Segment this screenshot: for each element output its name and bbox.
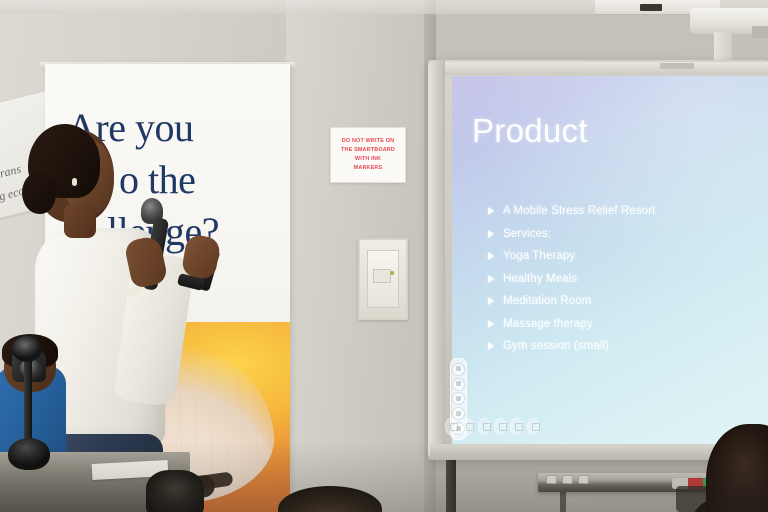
bullet-label: Gym session (small) [503, 340, 609, 352]
floor-shadow [0, 442, 768, 512]
pointer-icon[interactable] [452, 363, 465, 376]
projector-lens [752, 26, 768, 38]
list-item: Gym session (small) [488, 335, 760, 358]
bullet-label: Meditation Room [503, 295, 591, 307]
banner-headline-line-2: o the [119, 154, 290, 206]
triangle-bullet-icon [488, 252, 494, 260]
keyboard-icon[interactable] [494, 418, 506, 435]
wall-panel-face [367, 250, 399, 308]
list-item: Healthy Meals [488, 268, 760, 291]
warning-sign: DO NOT WRITE ON THE SMARTBOARD WITH INK … [330, 127, 406, 183]
list-item: A Mobile Stress Relief Resort [488, 200, 760, 223]
close-icon[interactable] [527, 418, 539, 435]
smartboard-horizontal-toolbar[interactable] [443, 417, 539, 435]
poster-text-line-1: ut trans [0, 162, 23, 186]
record-icon[interactable] [461, 418, 473, 435]
microphone-stand-head [12, 336, 42, 362]
projector-arm [714, 32, 732, 62]
list-item: Yoga Therapy [488, 245, 760, 268]
smartboard-left-rail [428, 60, 445, 460]
triangle-bullet-icon [488, 275, 494, 283]
triangle-bullet-icon [488, 207, 494, 215]
bullet-label: Services: [503, 228, 551, 240]
triangle-bullet-icon [488, 320, 494, 328]
list-item: Massage therapy [488, 313, 760, 336]
presenter-hair-bun [22, 172, 56, 214]
smartboard-top-notch [660, 63, 694, 69]
smartboard-top-rail [445, 62, 768, 75]
presenter-neck [64, 204, 96, 238]
warning-line-2: THE SMARTBOARD [341, 146, 395, 155]
bullet-label: Healthy Meals [503, 273, 577, 285]
warning-line-3: WITH INK [341, 155, 395, 164]
pan-icon[interactable] [452, 378, 465, 391]
bullet-label: Massage therapy [503, 318, 593, 330]
triangle-bullet-icon [488, 230, 494, 238]
undo-icon[interactable] [452, 392, 465, 405]
prev-icon[interactable] [445, 418, 457, 435]
pen-icon[interactable] [478, 418, 490, 435]
microphone-stand-pole [24, 352, 32, 444]
bullet-label: A Mobile Stress Relief Resort [503, 205, 655, 217]
triangle-bullet-icon [488, 297, 494, 305]
presenter-earring [72, 178, 77, 186]
triangle-bullet-icon [488, 342, 494, 350]
classroom-presentation-screenshot: ut trans ing econ Are you o the llenge? … [0, 0, 768, 512]
warning-line-1: DO NOT WRITE ON [341, 137, 395, 146]
slide-bullet-list: A Mobile Stress Relief Resort Services: … [488, 200, 760, 358]
projector-mount-slot [640, 4, 662, 11]
wall-control-panel[interactable] [358, 238, 408, 320]
warning-line-4: MARKERS [341, 164, 395, 173]
bullet-label: Yoga Therapy [503, 250, 575, 262]
list-item: Meditation Room [488, 290, 760, 313]
list-item: Services: [488, 223, 760, 246]
zoom-icon[interactable] [510, 418, 522, 435]
warning-sign-text: DO NOT WRITE ON THE SMARTBOARD WITH INK … [341, 137, 395, 173]
slide-title: Product [472, 112, 588, 150]
projected-slide[interactable]: Product A Mobile Stress Relief Resort Se… [452, 76, 768, 444]
wall-panel-led-icon [390, 271, 394, 275]
wall-panel-display [373, 269, 391, 283]
